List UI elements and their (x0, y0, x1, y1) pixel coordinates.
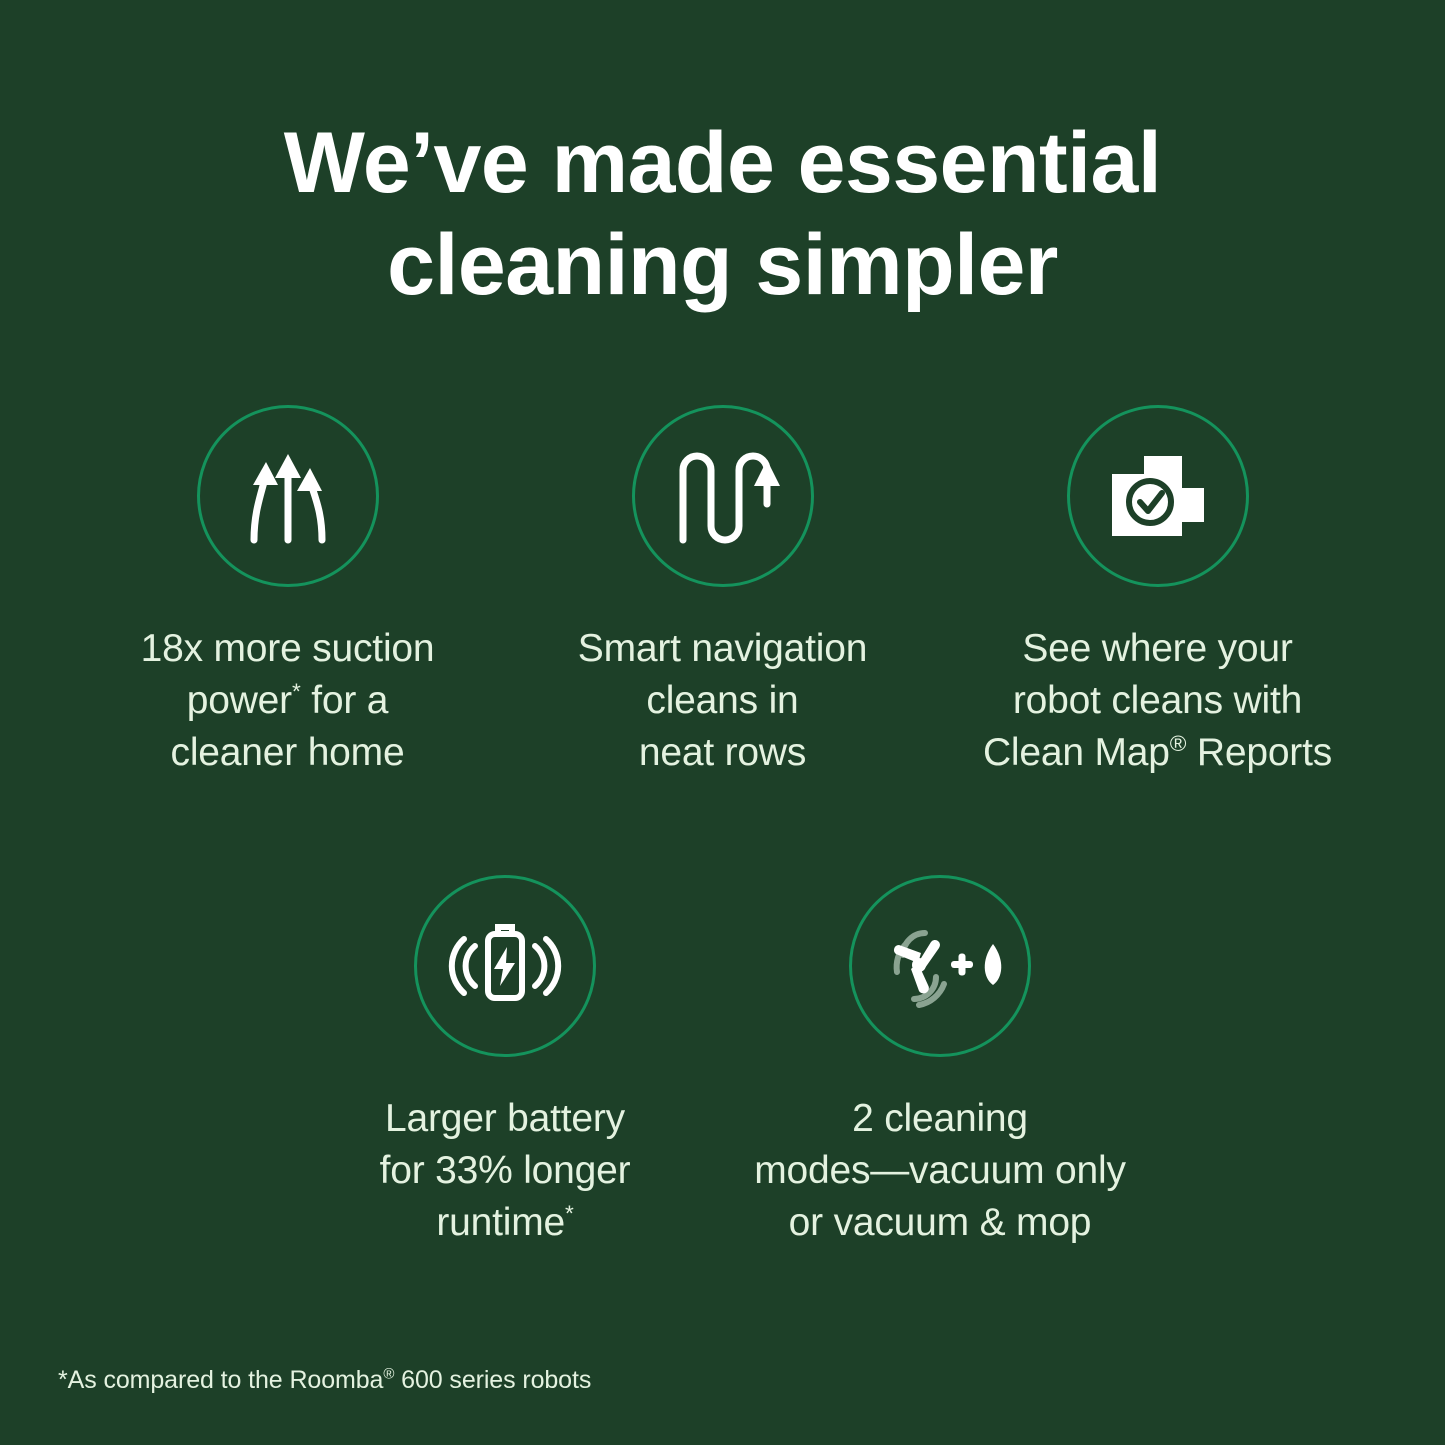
feature-cleaning-modes-caption: 2 cleaning modes—vacuum only or vacuum &… (754, 1093, 1126, 1249)
feature-row-bottom: Larger battery for 33% longer runtime* (0, 875, 1445, 1249)
caption-line-3: Clean Map (983, 731, 1170, 774)
caption-line-2: power (187, 679, 292, 722)
caption-line-2: robot cleans with (1013, 679, 1302, 722)
registered-mark: ® (1170, 731, 1186, 756)
caption-line-2-post: for a (301, 679, 389, 722)
serpentine-navigation-icon (632, 405, 814, 587)
asterisk-mark: * (292, 679, 301, 704)
caption-line-2: for 33% longer (380, 1149, 631, 1192)
caption-line-3-post: Reports (1186, 731, 1332, 774)
infographic-page: We’ve made essential cleaning simpler (0, 0, 1445, 1445)
caption-line-2: cleans in (646, 679, 798, 722)
feature-suction: 18x more suction power* for a cleaner ho… (70, 405, 505, 779)
caption-line-3: or vacuum & mop (789, 1201, 1092, 1244)
caption-line-1: See where your (1022, 627, 1292, 670)
headline-line-2: cleaning simpler (0, 214, 1445, 316)
clean-map-report-icon (1067, 405, 1249, 587)
caption-line-1: Smart navigation (578, 627, 867, 670)
registered-mark: ® (383, 1366, 394, 1383)
battery-charging-icon (414, 875, 596, 1057)
caption-line-1: 2 cleaning (852, 1097, 1028, 1140)
feature-suction-caption: 18x more suction power* for a cleaner ho… (141, 623, 435, 779)
footnote: *As compared to the Roomba® 600 series r… (58, 1363, 591, 1397)
caption-line-1: Larger battery (385, 1097, 625, 1140)
caption-line-2: modes—vacuum only (754, 1149, 1126, 1192)
footnote-text-post: 600 series robots (394, 1366, 591, 1394)
page-title: We’ve made essential cleaning simpler (0, 112, 1445, 316)
suction-arrows-icon (197, 405, 379, 587)
feature-clean-map: See where your robot cleans with Clean M… (940, 405, 1375, 779)
feature-row-top: 18x more suction power* for a cleaner ho… (0, 405, 1445, 779)
caption-line-3: runtime (436, 1201, 565, 1244)
vacuum-and-mop-icon (849, 875, 1031, 1057)
caption-line-3: cleaner home (171, 731, 405, 774)
feature-battery-caption: Larger battery for 33% longer runtime* (380, 1093, 631, 1249)
asterisk-mark: * (565, 1201, 574, 1226)
feature-navigation-caption: Smart navigation cleans in neat rows (578, 623, 867, 779)
caption-line-3: neat rows (639, 731, 806, 774)
footnote-text: *As compared to the Roomba (58, 1366, 383, 1394)
caption-line-1: 18x more suction (141, 627, 435, 670)
feature-cleaning-modes: 2 cleaning modes—vacuum only or vacuum &… (723, 875, 1158, 1249)
headline-line-1: We’ve made essential (0, 112, 1445, 214)
feature-navigation: Smart navigation cleans in neat rows (505, 405, 940, 779)
feature-clean-map-caption: See where your robot cleans with Clean M… (983, 623, 1332, 779)
feature-battery: Larger battery for 33% longer runtime* (288, 875, 723, 1249)
